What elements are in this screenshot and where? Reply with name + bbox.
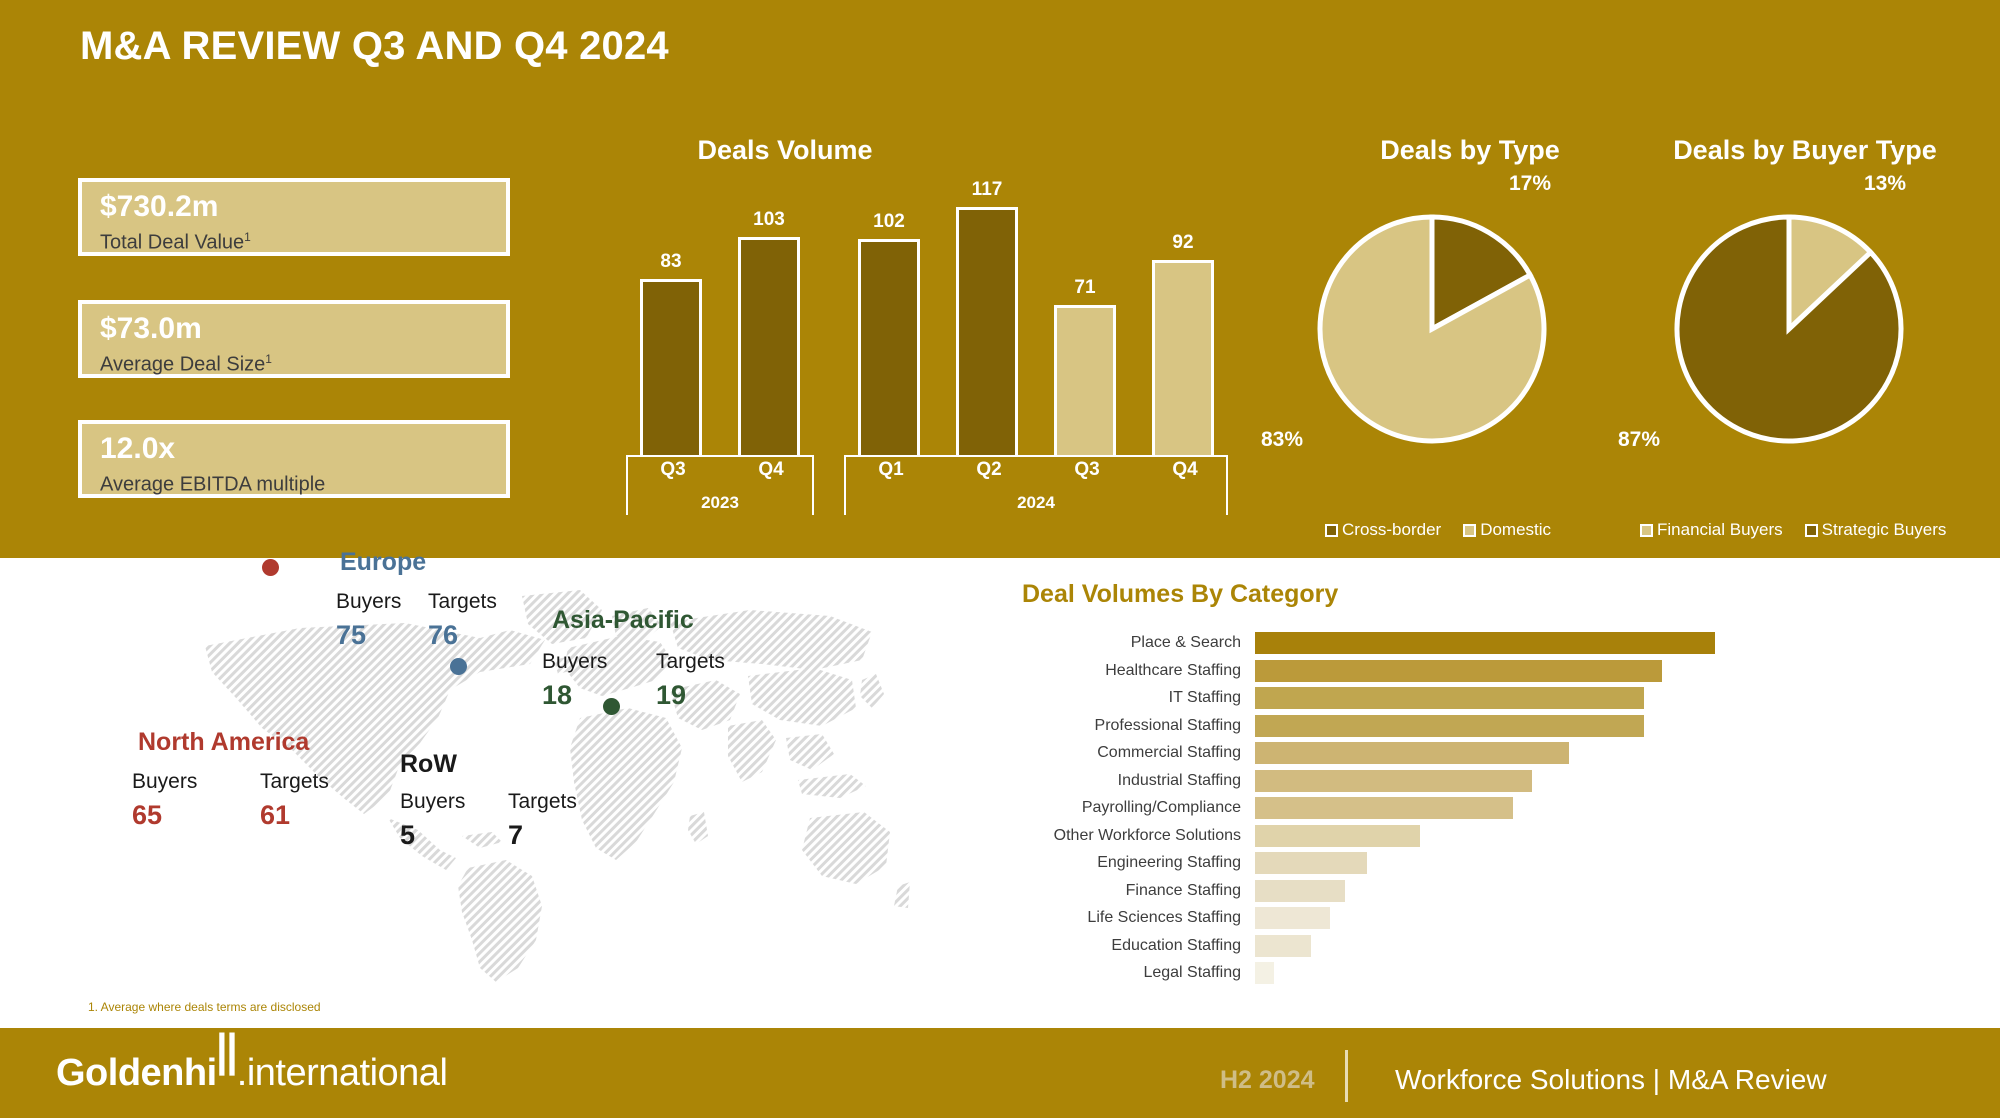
category-bar xyxy=(1255,660,1662,682)
logo-text-part1: Golden xyxy=(56,1052,184,1094)
infographic-page: M&A REVIEW Q3 AND Q4 2024 $730.2m Total … xyxy=(0,0,2000,1118)
legend-label: Cross-border xyxy=(1342,520,1441,540)
region-buyers-value-north-america: 65 xyxy=(132,800,162,831)
column-bar-group: 102 xyxy=(858,180,920,455)
category-label: IT Staffing xyxy=(1000,689,1255,707)
region-targets-label-row: Targets xyxy=(508,790,577,814)
kpi-label: Total Deal Value1 xyxy=(100,224,488,256)
category-label: Payrolling/Compliance xyxy=(1000,799,1255,817)
category-bar xyxy=(1255,797,1513,819)
region-buyers-label-row: Buyers xyxy=(400,790,465,814)
region-buyers-label-north-america: Buyers xyxy=(132,770,197,794)
category-bar-row: Life Sciences Staffing xyxy=(1000,907,1800,929)
region-targets-label-north-america: Targets xyxy=(260,770,329,794)
column-bar xyxy=(1054,305,1116,455)
legend-item: Financial Buyers xyxy=(1640,520,1783,540)
region-targets-label-europe: Targets xyxy=(428,590,497,614)
category-bar-row: Education Staffing xyxy=(1000,935,1800,957)
deals-by-type-legend: Cross-borderDomestic xyxy=(1325,520,1551,540)
category-bar-row: Engineering Staffing xyxy=(1000,852,1800,874)
column-value-label: 83 xyxy=(640,251,702,273)
region-targets-value-europe: 76 xyxy=(428,620,458,651)
column-value-label: 92 xyxy=(1152,232,1214,254)
axis-quarter-label: Q4 xyxy=(740,459,802,481)
footnote-marker: 1 xyxy=(244,230,251,244)
footnote-text: 1. Average where deals terms are disclos… xyxy=(88,1000,321,1014)
pie-percent-label: 17% xyxy=(1509,172,1551,196)
category-bar-row: Professional Staffing xyxy=(1000,715,1800,737)
page-title: M&A REVIEW Q3 AND Q4 2024 xyxy=(80,24,669,69)
category-bar-track xyxy=(1255,715,1800,737)
column-value-label: 71 xyxy=(1054,277,1116,299)
deals-by-buyer-type-legend: Financial BuyersStrategic Buyers xyxy=(1640,520,1946,540)
column-bar-group: 83 xyxy=(640,180,702,455)
column-bar xyxy=(1152,260,1214,455)
legend-swatch-icon xyxy=(1325,524,1338,537)
goldenhill-logo: Goldenhill.international xyxy=(56,1052,447,1095)
region-buyers-label-europe: Buyers xyxy=(336,590,401,614)
top-gold-panel: M&A REVIEW Q3 AND Q4 2024 $730.2m Total … xyxy=(0,0,2000,558)
category-bar-row: Industrial Staffing xyxy=(1000,770,1800,792)
category-bar-track xyxy=(1255,962,1800,984)
category-bar xyxy=(1255,632,1715,654)
column-value-label: 103 xyxy=(738,209,800,231)
region-label-north-america: North America xyxy=(138,728,309,757)
category-bar-row: Healthcare Staffing xyxy=(1000,660,1800,682)
category-bar-track xyxy=(1255,935,1800,957)
category-bar-row: Finance Staffing xyxy=(1000,880,1800,902)
pie-graphic xyxy=(1313,210,1551,448)
category-bar-row: Legal Staffing xyxy=(1000,962,1800,984)
axis-quarter-label: Q3 xyxy=(1056,459,1118,481)
category-bar-row: IT Staffing xyxy=(1000,687,1800,709)
category-bar xyxy=(1255,907,1330,929)
category-label: Education Staffing xyxy=(1000,937,1255,955)
world-map-area: North America Buyers 65 Targets 61 Europ… xyxy=(110,558,920,1008)
region-targets-value-asia-pacific: 19 xyxy=(656,680,686,711)
category-bar xyxy=(1255,825,1420,847)
region-label-europe: Europe xyxy=(340,548,426,577)
category-label: Finance Staffing xyxy=(1000,882,1255,900)
kpi-label: Average Deal Size1 xyxy=(100,346,488,378)
category-bar xyxy=(1255,742,1569,764)
deals-by-type-pie: 17%83% xyxy=(1313,210,1551,448)
category-bar-track xyxy=(1255,880,1800,902)
column-bar-group: 71 xyxy=(1054,180,1116,455)
column-bar xyxy=(858,239,920,455)
category-label: Industrial Staffing xyxy=(1000,772,1255,790)
region-buyers-value-asia-pacific: 18 xyxy=(542,680,572,711)
column-bar xyxy=(738,237,800,455)
legend-label: Domestic xyxy=(1480,520,1551,540)
category-label: Other Workforce Solutions xyxy=(1000,827,1255,845)
category-bar xyxy=(1255,880,1345,902)
pie-percent-label: 83% xyxy=(1261,428,1303,452)
category-bar-track xyxy=(1255,770,1800,792)
legend-label: Strategic Buyers xyxy=(1822,520,1947,540)
axis-quarter-label: Q2 xyxy=(958,459,1020,481)
deals-by-buyer-type-pie: 13%87% xyxy=(1670,210,1908,448)
category-label: Life Sciences Staffing xyxy=(1000,909,1255,927)
region-targets-value-north-america: 61 xyxy=(260,800,290,831)
legend-label: Financial Buyers xyxy=(1657,520,1783,540)
column-bar xyxy=(640,279,702,455)
region-buyers-label-asia-pacific: Buyers xyxy=(542,650,607,674)
deals-by-buyer-type-title: Deals by Buyer Type xyxy=(1595,135,2000,166)
category-bar xyxy=(1255,687,1644,709)
kpi-value: $730.2m xyxy=(100,190,488,224)
kpi-value: $73.0m xyxy=(100,312,488,346)
category-label: Engineering Staffing xyxy=(1000,854,1255,872)
category-label: Healthcare Staffing xyxy=(1000,662,1255,680)
column-bar-group: 117 xyxy=(956,180,1018,455)
category-bar-row: Payrolling/Compliance xyxy=(1000,797,1800,819)
map-dot-europe xyxy=(450,658,467,675)
axis-quarter-label: Q1 xyxy=(860,459,922,481)
legend-item: Cross-border xyxy=(1325,520,1441,540)
category-label: Professional Staffing xyxy=(1000,717,1255,735)
map-dot-asia-pacific xyxy=(603,698,620,715)
category-bar-track xyxy=(1255,797,1800,819)
column-value-label: 102 xyxy=(858,211,920,233)
axis-quarter-label: Q3 xyxy=(642,459,704,481)
logo-text-part2: hi xyxy=(184,1052,217,1094)
legend-swatch-icon xyxy=(1640,524,1653,537)
legend-swatch-icon xyxy=(1805,524,1818,537)
deal-volumes-by-category-chart: Place & SearchHealthcare StaffingIT Staf… xyxy=(1000,632,1800,992)
map-dot-north-america xyxy=(262,559,279,576)
category-bar xyxy=(1255,770,1532,792)
category-bar-track xyxy=(1255,825,1800,847)
category-bar xyxy=(1255,935,1311,957)
category-bar xyxy=(1255,962,1274,984)
column-bar-group: 103 xyxy=(738,180,800,455)
column-bar xyxy=(956,207,1018,455)
logo-text-tall: ll xyxy=(217,1024,237,1091)
axis-year-group: Q1Q2Q3Q42024 xyxy=(844,455,1228,515)
legend-item: Strategic Buyers xyxy=(1805,520,1947,540)
category-bar-track xyxy=(1255,907,1800,929)
category-bar-track xyxy=(1255,660,1800,682)
category-bar-track xyxy=(1255,742,1800,764)
footer-bar: Goldenhill.international H2 2024 Workfor… xyxy=(0,1028,2000,1118)
pie-percent-label: 87% xyxy=(1618,428,1660,452)
category-label: Commercial Staffing xyxy=(1000,744,1255,762)
category-label: Legal Staffing xyxy=(1000,964,1255,982)
region-label-asia-pacific: Asia-Pacific xyxy=(552,606,694,635)
deals-volume-chart-title: Deals Volume xyxy=(620,135,950,166)
axis-quarter-label: Q4 xyxy=(1154,459,1216,481)
deal-volumes-by-category-title: Deal Volumes By Category xyxy=(1022,580,1338,609)
deals-volume-chart: 831031021177192 xyxy=(618,180,1200,455)
legend-swatch-icon xyxy=(1463,524,1476,537)
column-value-label: 117 xyxy=(956,179,1018,201)
pie-graphic xyxy=(1670,210,1908,448)
axis-year-group: Q3Q42023 xyxy=(626,455,814,515)
legend-item: Domestic xyxy=(1463,520,1551,540)
logo-text-part3: .international xyxy=(237,1052,448,1094)
axis-year-label: 2024 xyxy=(846,493,1226,513)
category-bar xyxy=(1255,852,1367,874)
region-targets-label-asia-pacific: Targets xyxy=(656,650,725,674)
kpi-value: 12.0x xyxy=(100,432,488,466)
category-bar-track xyxy=(1255,852,1800,874)
region-label-row: RoW xyxy=(400,750,457,779)
category-bar-row: Other Workforce Solutions xyxy=(1000,825,1800,847)
axis-year-label: 2023 xyxy=(628,493,812,513)
kpi-card-total-deal-value: $730.2m Total Deal Value1 xyxy=(78,178,510,256)
kpi-card-average-ebitda-multiple: 12.0x Average EBITDA multiple xyxy=(78,420,510,498)
kpi-label: Average EBITDA multiple xyxy=(100,466,488,498)
footer-tagline: Workforce Solutions | M&A Review xyxy=(1395,1064,1827,1096)
footnote-marker: 1 xyxy=(265,352,272,366)
category-bar-row: Place & Search xyxy=(1000,632,1800,654)
region-buyers-value-row: 5 xyxy=(400,820,415,851)
category-bar-track xyxy=(1255,687,1800,709)
kpi-card-average-deal-size: $73.0m Average Deal Size1 xyxy=(78,300,510,378)
category-bar-track xyxy=(1255,632,1800,654)
column-bar-group: 92 xyxy=(1152,180,1214,455)
region-targets-value-row: 7 xyxy=(508,820,523,851)
category-bar-row: Commercial Staffing xyxy=(1000,742,1800,764)
category-bar xyxy=(1255,715,1644,737)
pie-percent-label: 13% xyxy=(1864,172,1906,196)
category-label: Place & Search xyxy=(1000,634,1255,652)
region-buyers-value-europe: 75 xyxy=(336,620,366,651)
footer-divider xyxy=(1345,1050,1348,1102)
footer-period: H2 2024 xyxy=(1220,1066,1315,1095)
